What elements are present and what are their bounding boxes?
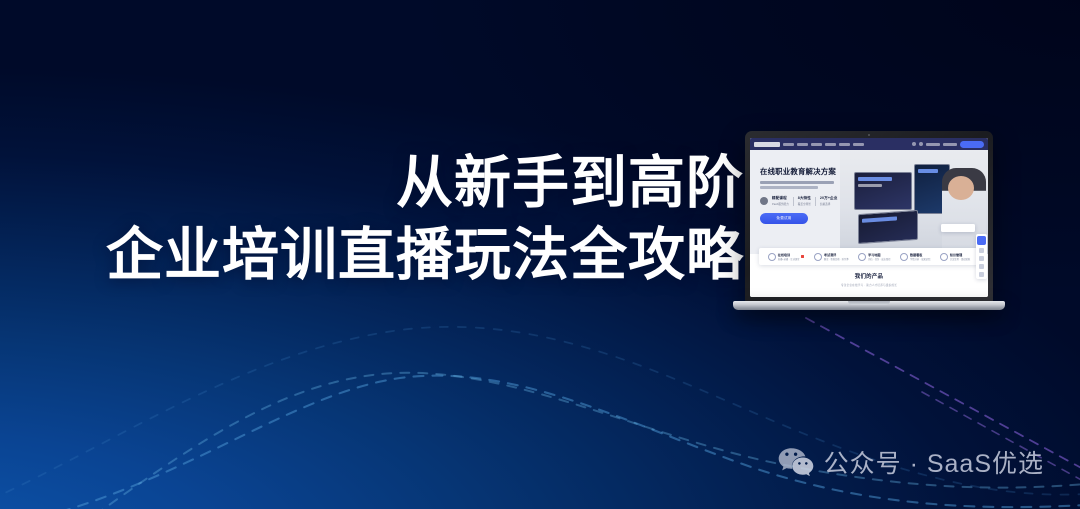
laptop-mockup: 在线职业教育解决方案 精配课程 PaaS服务能力 xyxy=(733,131,1005,321)
nav-phone-number xyxy=(926,143,940,146)
navbar-right xyxy=(912,141,984,148)
feature-title: 数据看板 xyxy=(910,252,930,257)
feature-icon xyxy=(858,253,866,261)
monitor-subbadge xyxy=(858,184,882,187)
monitor-badge xyxy=(862,216,897,222)
monitor-image xyxy=(854,172,912,210)
back-to-top-icon[interactable] xyxy=(979,272,984,277)
feature-subtitle: 学情分析 · 效果追踪 xyxy=(910,257,930,261)
feature-title: 学习地图 xyxy=(868,252,890,257)
phone-icon xyxy=(919,142,923,146)
hot-tag xyxy=(801,255,804,258)
hero-cta-label: 免费试用 xyxy=(776,216,791,221)
feature-icon xyxy=(814,253,822,261)
feature-text: 学习地图 岗位 · 任务 · 成长路径 xyxy=(868,252,890,262)
feature-item[interactable]: 知识管理 沉淀复用 · 组织赋能 xyxy=(940,252,970,262)
site-navbar xyxy=(750,138,988,150)
feature-text: 考试测评 题库 · 智能组卷 · 防作弊 xyxy=(824,252,849,262)
feature-title: 知识管理 xyxy=(950,252,970,257)
feature-text: 数据看板 学情分析 · 效果追踪 xyxy=(910,252,930,262)
stat-item: 8大特性 覆盖全场景 xyxy=(798,196,811,206)
feature-icon xyxy=(940,253,948,261)
nav-language-switch[interactable] xyxy=(943,143,957,146)
site-side-toolbar xyxy=(976,234,987,279)
section-heading: 我们的产品 专注企业在线学习 · 助力人才培养与组织成长 xyxy=(750,272,988,287)
banner-headline: 从新手到高阶 企业培训直播玩法全攻略 xyxy=(44,150,744,288)
hero-title: 在线职业教育解决方案 xyxy=(760,166,852,177)
nav-link[interactable] xyxy=(853,143,864,146)
nav-link[interactable] xyxy=(839,143,850,146)
divider xyxy=(815,197,816,206)
hero-subtitle-line-2 xyxy=(760,186,818,189)
laptop-lid: 在线职业教育解决方案 精配课程 PaaS服务能力 xyxy=(745,131,993,303)
qrcode-icon[interactable] xyxy=(979,256,984,261)
monitor-badge xyxy=(858,177,892,181)
monitor-image xyxy=(858,210,918,244)
site-hero: 在线职业教育解决方案 精配课程 PaaS服务能力 xyxy=(750,150,988,254)
hero-photo xyxy=(840,150,988,254)
feature-icon xyxy=(900,253,908,261)
chat-popup[interactable] xyxy=(941,224,975,232)
stat-value: 20万+企业 xyxy=(820,196,837,201)
feature-subtitle: 岗位 · 任务 · 成长路径 xyxy=(868,257,890,261)
feature-subtitle: 沉淀复用 · 组织赋能 xyxy=(950,257,970,261)
watermark-text: 公众号 · SaaS优选 xyxy=(824,444,1044,480)
stat-value: 精配课程 xyxy=(772,196,789,201)
webcam-icon xyxy=(868,134,870,136)
stat-value: 8大特性 xyxy=(798,196,811,201)
feature-item[interactable]: 考试测评 题库 · 智能组卷 · 防作弊 xyxy=(814,252,849,262)
nav-link[interactable] xyxy=(797,143,808,146)
feature-bar: 在线培训 直播+录播 · 互动课堂 考试测评 题库 · 智能组卷 · 防作弊 xyxy=(759,248,979,265)
nav-cta-button[interactable] xyxy=(960,141,984,148)
feature-title: 考试测评 xyxy=(824,252,849,257)
monitor-badge xyxy=(918,169,938,173)
feature-item[interactable]: 在线培训 直播+录播 · 互动课堂 xyxy=(768,252,805,262)
stat-item: 20万+企业 信赖选择 xyxy=(820,196,837,206)
laptop-base xyxy=(733,301,1005,310)
banner-canvas: 从新手到高阶 企业培训直播玩法全攻略 xyxy=(0,0,1080,509)
nav-link[interactable] xyxy=(825,143,836,146)
feature-subtitle: 直播+录播 · 互动课堂 xyxy=(778,257,800,261)
watermark: 公众号 · SaaS优选 xyxy=(778,444,1044,480)
feature-icon xyxy=(768,253,776,261)
feature-item[interactable]: 数据看板 学情分析 · 效果追踪 xyxy=(900,252,930,262)
stat-bullet-icon xyxy=(760,197,768,205)
stat-label: PaaS服务能力 xyxy=(772,202,789,206)
section-subtitle: 专注企业在线学习 · 助力人才培养与组织成长 xyxy=(750,283,988,287)
feedback-icon[interactable] xyxy=(979,264,984,269)
headline-line-1: 从新手到高阶 xyxy=(44,150,744,216)
laptop-screen: 在线职业教育解决方案 精配课程 PaaS服务能力 xyxy=(750,138,988,297)
consult-icon[interactable] xyxy=(977,236,986,245)
divider xyxy=(793,197,794,206)
feature-title: 在线培训 xyxy=(778,252,800,257)
headline-line-2: 企业培训直播玩法全攻略 xyxy=(44,222,744,288)
wechat-icon xyxy=(778,447,814,478)
stat-item: 精配课程 PaaS服务能力 xyxy=(772,196,789,206)
stat-label: 覆盖全场景 xyxy=(798,202,811,206)
feature-item[interactable]: 学习地图 岗位 · 任务 · 成长路径 xyxy=(858,252,890,262)
hero-subtitle-line-1 xyxy=(760,181,834,184)
website-preview: 在线职业教育解决方案 精配课程 PaaS服务能力 xyxy=(750,138,988,297)
phone-icon[interactable] xyxy=(979,248,984,253)
feature-text: 知识管理 沉淀复用 · 组织赋能 xyxy=(950,252,970,262)
feature-subtitle: 题库 · 智能组卷 · 防作弊 xyxy=(824,257,849,261)
hero-copy: 在线职业教育解决方案 精配课程 PaaS服务能力 xyxy=(760,166,852,224)
hero-stats: 精配课程 PaaS服务能力 8大特性 覆盖全场景 2 xyxy=(760,196,852,206)
nav-link[interactable] xyxy=(811,143,822,146)
section-title: 我们的产品 xyxy=(750,272,988,280)
hero-cta-button[interactable]: 免费试用 xyxy=(760,213,808,224)
stat-label: 信赖选择 xyxy=(820,202,837,206)
search-icon[interactable] xyxy=(912,142,916,146)
site-logo xyxy=(754,142,780,147)
feature-text: 在线培训 直播+录播 · 互动课堂 xyxy=(778,252,800,262)
nav-link[interactable] xyxy=(783,143,794,146)
